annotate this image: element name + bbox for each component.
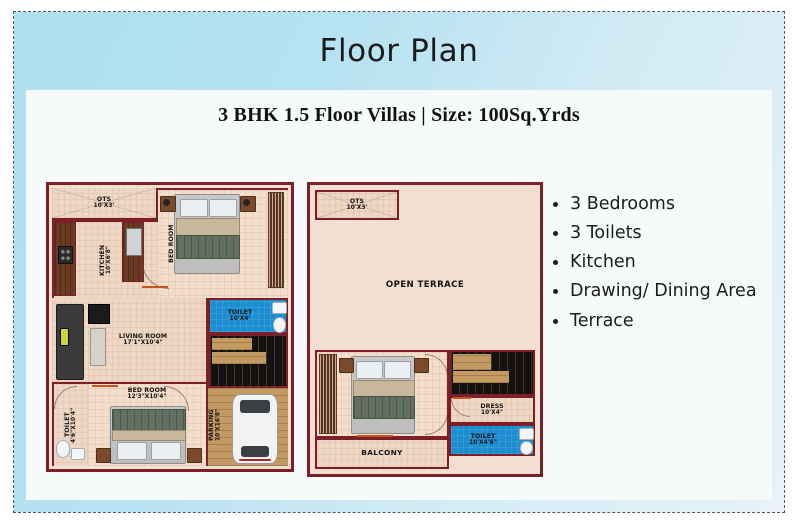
- fridge-icon: [126, 228, 142, 256]
- nightstand: [339, 358, 354, 373]
- car-windshield: [240, 400, 270, 413]
- upper-floor-plan: OTS 10'X3' OPEN TERRACE BED ROOM 17'1"X1…: [307, 182, 543, 477]
- room-label: OPEN TERRACE: [386, 280, 464, 290]
- window-slats: [319, 354, 337, 434]
- pillow: [117, 442, 147, 460]
- page-title: Floor Plan: [14, 12, 784, 90]
- toilet-icon: [520, 441, 533, 455]
- list-item: Terrace: [550, 311, 790, 331]
- bed-furniture: [351, 356, 415, 434]
- room-dimension: 10'X3': [94, 203, 115, 210]
- blanket: [112, 430, 186, 441]
- list-item: Kitchen: [550, 252, 790, 272]
- blanket: [176, 218, 240, 236]
- room-ots: OTS 10'X3': [315, 190, 399, 220]
- room-open-terrace: OPEN TERRACE: [315, 220, 535, 350]
- bed-folded-throw: [176, 235, 240, 259]
- room-balcony: BALCONY: [315, 438, 449, 469]
- list-item: Drawing/ Dining Area: [550, 281, 790, 301]
- room-dimension: 12'3"X10'4": [127, 394, 166, 401]
- stair-tread: [453, 354, 491, 370]
- bed-folded-throw: [353, 396, 415, 419]
- pillow: [209, 199, 237, 217]
- ground-floor-plan: OTS 10'X3' KITCHEN 10'X6'8" BED ROOM 17'…: [46, 182, 294, 472]
- room-ots: OTS 10'X3': [52, 188, 158, 220]
- toilet-icon: [56, 440, 70, 458]
- room-label: KITCHEN: [99, 244, 106, 275]
- room-label: BED ROOM: [128, 387, 166, 394]
- room-label: OTS: [97, 196, 111, 203]
- content-panel: 3 BHK 1.5 Floor Villas | Size: 100Sq.Yrd…: [26, 90, 772, 500]
- feature-list: 3 Bedrooms 3 Toilets Kitchen Drawing/ Di…: [550, 194, 790, 340]
- car-rear-window: [241, 446, 269, 457]
- lamp-icon: [163, 199, 170, 206]
- room-label: DRESS: [480, 403, 503, 410]
- window-sill: [357, 435, 393, 437]
- nightstand: [187, 448, 202, 463]
- bed-furniture: [110, 406, 186, 464]
- coffee-table: [90, 328, 106, 366]
- stove-icon: [58, 246, 73, 264]
- car-taillight: [239, 459, 271, 461]
- room-dimension: 10'X16'8": [215, 409, 222, 441]
- page-subtitle: 3 BHK 1.5 Floor Villas | Size: 100Sq.Yrd…: [26, 104, 772, 127]
- sink-icon: [272, 302, 287, 314]
- pillow: [180, 199, 208, 217]
- sink-icon: [519, 428, 534, 440]
- list-item: 3 Toilets: [550, 223, 790, 243]
- room-label: LIVING ROOM: [119, 333, 167, 340]
- room-dimension: 17'1"X10'4": [123, 340, 162, 347]
- stair-tread: [453, 371, 509, 383]
- bed-folded-throw: [112, 409, 186, 431]
- bed-furniture: [174, 194, 240, 274]
- room-dimension: 4'6"X10'4": [71, 407, 78, 442]
- tv-unit: [88, 304, 110, 324]
- blanket: [353, 380, 415, 397]
- room-label: BALCONY: [361, 449, 402, 458]
- pillow: [356, 361, 383, 379]
- room-label: PARKING: [208, 409, 215, 441]
- window-sill: [92, 385, 118, 387]
- car-icon: [232, 394, 278, 464]
- room-dimension: 10'X4': [230, 316, 251, 323]
- room-dimension: 10'X4'6": [469, 440, 497, 447]
- room-dimension: 10'X3': [347, 205, 368, 212]
- sink-icon: [71, 448, 85, 460]
- door-sill: [142, 286, 168, 288]
- room-label: TOILET: [64, 413, 71, 438]
- toilet-icon: [273, 317, 286, 333]
- room-dimension: 10'X4": [481, 410, 503, 417]
- tv-icon: [60, 328, 69, 346]
- pillow: [384, 361, 411, 379]
- lamp-icon: [243, 199, 250, 206]
- slide-canvas: Floor Plan 3 BHK 1.5 Floor Villas | Size…: [14, 12, 784, 512]
- room-dimension: 10'X6'8": [106, 246, 113, 274]
- room-label: OTS: [350, 198, 364, 205]
- nightstand: [96, 448, 111, 463]
- list-item: 3 Bedrooms: [550, 194, 790, 214]
- stair-tread: [212, 338, 252, 350]
- window-slats: [268, 192, 284, 288]
- stair-tread: [212, 352, 266, 364]
- pillow: [151, 442, 181, 460]
- room-label: TOILET: [471, 433, 496, 440]
- room-label: TOILET: [228, 309, 253, 316]
